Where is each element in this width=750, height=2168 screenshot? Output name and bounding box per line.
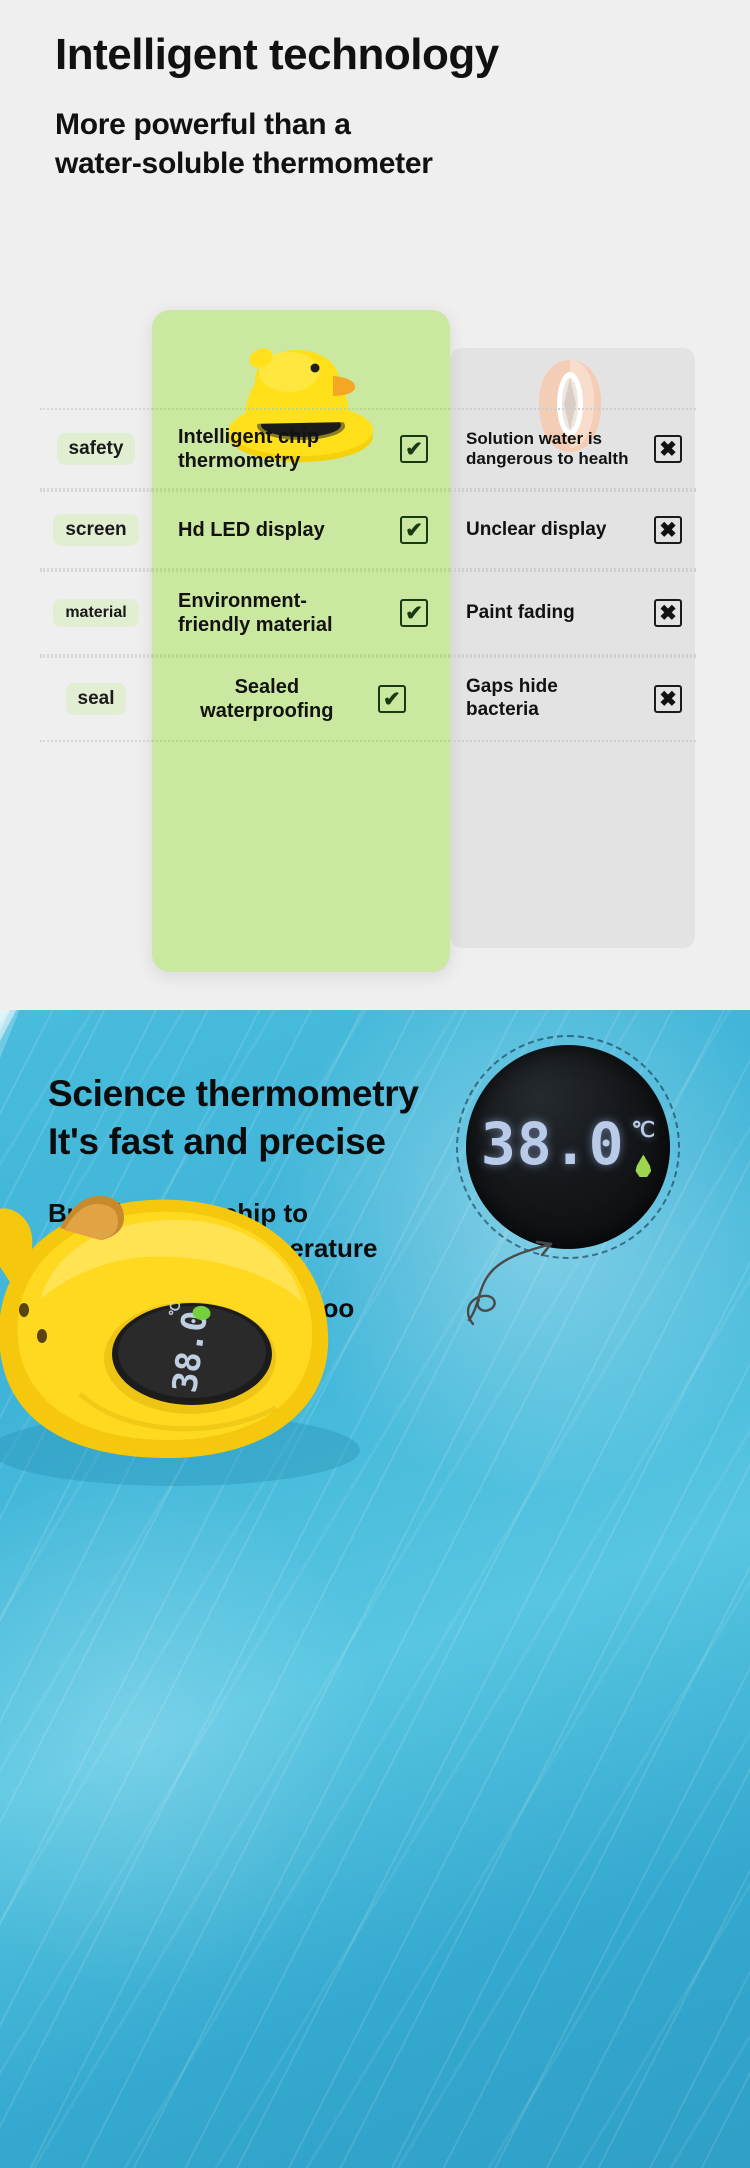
intelligent-technology-section: Intelligent technology More powerful tha… bbox=[0, 0, 750, 1010]
bad-text: Solution water is dangerous to health bbox=[466, 429, 628, 470]
good-text-line-2: thermometry bbox=[178, 449, 319, 473]
page-subtitle: More powerful than a water-soluble therm… bbox=[55, 105, 715, 183]
good-text-line-2: friendly material bbox=[178, 613, 333, 637]
bad-text: Gaps hide bacteria bbox=[466, 676, 558, 722]
temperature-value: 38.0 bbox=[481, 1117, 625, 1172]
row-label-cell: material bbox=[40, 570, 152, 656]
good-text-line-1: Environment- bbox=[178, 589, 333, 613]
check-box-icon: ✔ bbox=[400, 516, 428, 544]
cross-box-icon: ✖ bbox=[654, 685, 682, 713]
page-title: Intelligent technology bbox=[55, 30, 715, 79]
row-label-cell: safety bbox=[40, 408, 152, 490]
row-label: material bbox=[53, 599, 138, 627]
table-row: material Environment- friendly material … bbox=[40, 570, 712, 656]
row-bad-cell: Unclear display ✖ bbox=[450, 490, 696, 570]
bad-text: Paint fading bbox=[466, 602, 575, 625]
subtitle-line-1: More powerful than a bbox=[55, 105, 715, 144]
row-label: seal bbox=[66, 683, 127, 715]
bad-text-line-1: Solution water is bbox=[466, 429, 628, 449]
good-text: Hd LED display bbox=[178, 518, 325, 542]
good-text-line-1: Sealed bbox=[200, 675, 333, 699]
good-text: Intelligent chip thermometry bbox=[178, 425, 319, 473]
good-text-line-1: Intelligent chip bbox=[178, 425, 319, 449]
comparison-table: safety Intelligent chip thermometry ✔ So… bbox=[0, 300, 750, 950]
row-label-cell: seal bbox=[40, 656, 152, 742]
cross-box-icon: ✖ bbox=[654, 435, 682, 463]
top-heading-group: Intelligent technology More powerful tha… bbox=[55, 30, 715, 183]
led-screen: 38.0 ℃ bbox=[466, 1045, 670, 1249]
water-drop-icon bbox=[635, 1155, 652, 1178]
svg-text:℃: ℃ bbox=[166, 1301, 183, 1318]
row-good-cell: Environment- friendly material ✔ bbox=[152, 570, 450, 656]
table-row: screen Hd LED display ✔ Unclear display … bbox=[40, 490, 712, 570]
check-box-icon: ✔ bbox=[400, 435, 428, 463]
temperature-unit: ℃ bbox=[632, 1120, 656, 1141]
row-label: screen bbox=[53, 514, 138, 546]
table-row: safety Intelligent chip thermometry ✔ So… bbox=[40, 408, 712, 490]
bad-text-line-1: Unclear display bbox=[466, 519, 606, 542]
cross-box-icon: ✖ bbox=[654, 516, 682, 544]
bad-text-line-2: dangerous to health bbox=[466, 449, 628, 469]
row-good-cell: Intelligent chip thermometry ✔ bbox=[152, 408, 450, 490]
bad-text-line-1: Gaps hide bbox=[466, 676, 558, 699]
bad-text-line-1: Paint fading bbox=[466, 602, 575, 625]
led-side-group: ℃ bbox=[632, 1117, 656, 1178]
table-row: seal Sealed waterproofing ✔ Gaps hide ba… bbox=[40, 656, 712, 742]
row-bad-cell: Paint fading ✖ bbox=[450, 570, 696, 656]
row-bad-cell: Gaps hide bacteria ✖ bbox=[450, 656, 696, 742]
check-box-icon: ✔ bbox=[378, 685, 406, 713]
good-text: Environment- friendly material bbox=[178, 589, 333, 637]
row-good-cell: Sealed waterproofing ✔ bbox=[152, 656, 450, 742]
bad-text: Unclear display bbox=[466, 519, 606, 542]
good-text-line-1: Hd LED display bbox=[178, 518, 325, 542]
good-text-line-2: waterproofing bbox=[200, 699, 333, 723]
row-label-cell: screen bbox=[40, 490, 152, 570]
curved-arrow-icon bbox=[455, 1220, 585, 1330]
row-good-cell: Hd LED display ✔ bbox=[152, 490, 450, 570]
cross-box-icon: ✖ bbox=[654, 599, 682, 627]
subtitle-line-2: water-soluble thermometer bbox=[55, 144, 715, 183]
duck-product-image: 38.0 ℃ bbox=[0, 1150, 390, 1490]
check-box-icon: ✔ bbox=[400, 599, 428, 627]
bad-text-line-2: bacteria bbox=[466, 699, 558, 722]
row-bad-cell: Solution water is dangerous to health ✖ bbox=[450, 408, 696, 490]
led-readout: 38.0 ℃ bbox=[481, 1117, 655, 1178]
row-label: safety bbox=[57, 433, 136, 465]
good-text: Sealed waterproofing bbox=[200, 675, 333, 723]
